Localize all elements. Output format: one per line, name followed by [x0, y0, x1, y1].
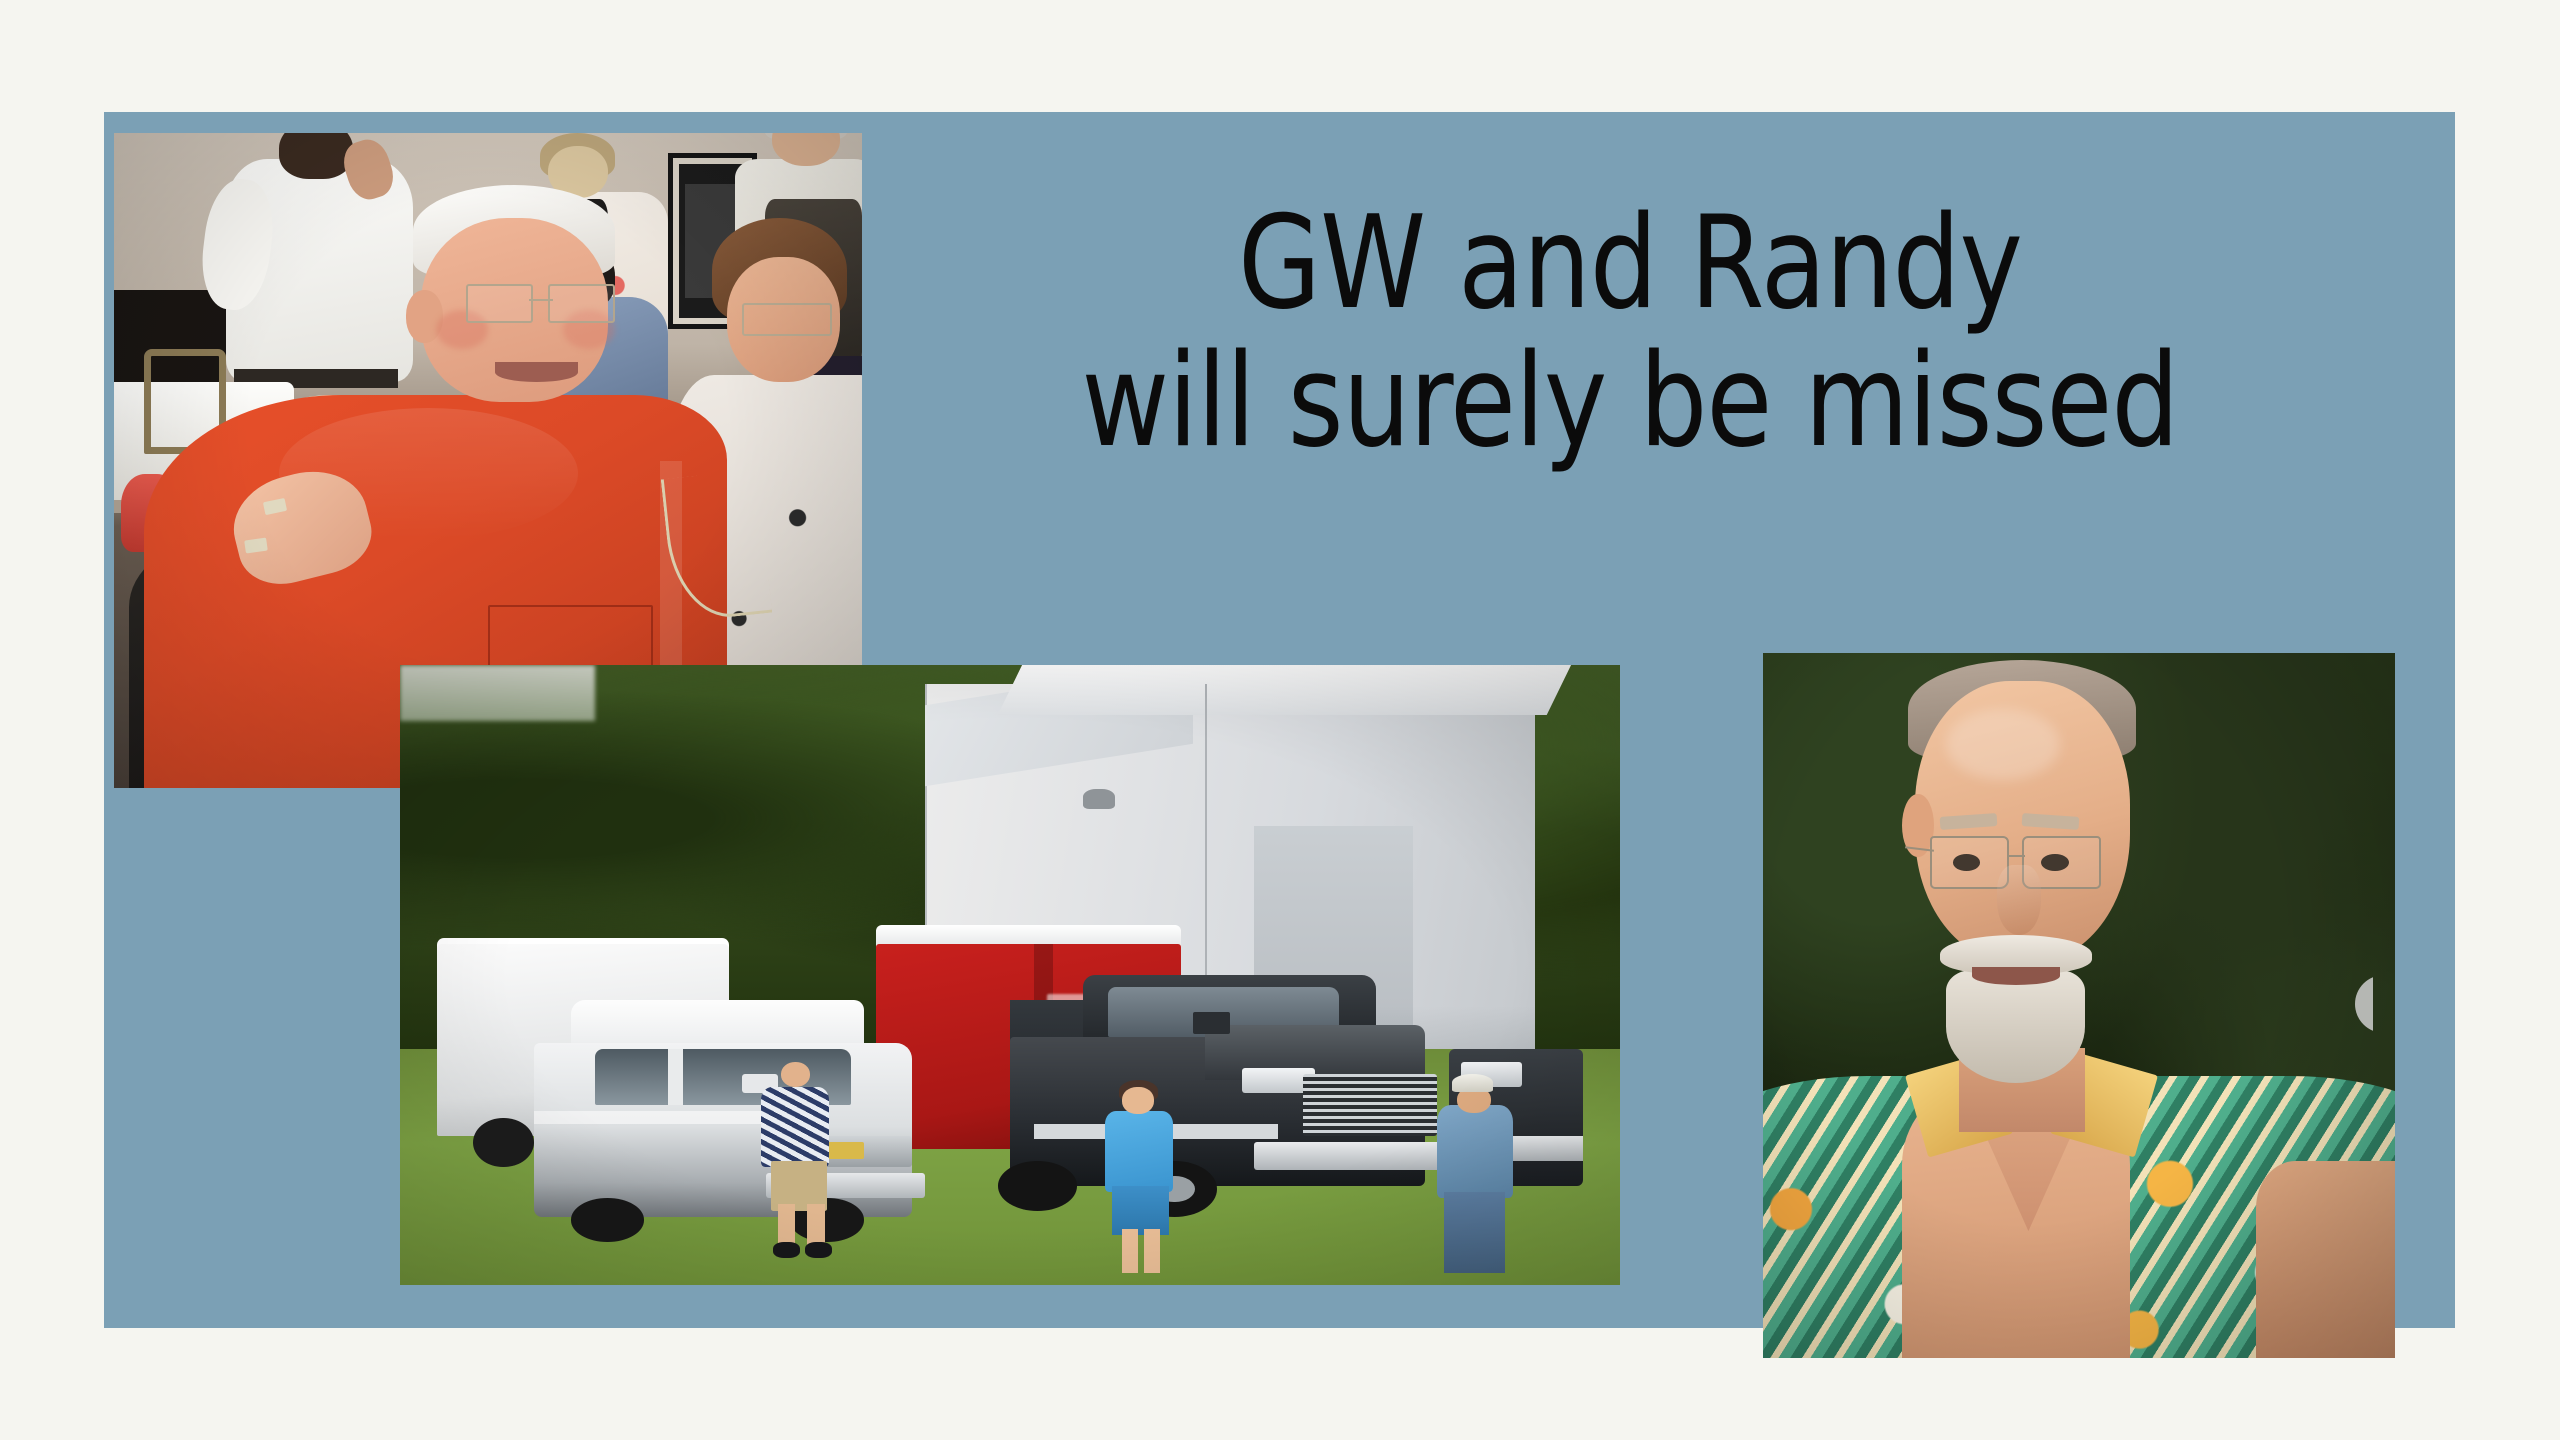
photo-randy-scene: [1763, 653, 2395, 1358]
title-line-1: GW and Randy: [933, 195, 2328, 333]
title-line-2: will surely be missed: [933, 333, 2328, 471]
slide-canvas: GW and Randy will surely be missed: [0, 0, 2560, 1440]
photo-trucks-scene: [400, 665, 1620, 1285]
photo-randy-portrait[interactable]: [1763, 653, 2395, 1358]
photo-trucks-trailers[interactable]: [400, 665, 1620, 1285]
page-title: GW and Randy will surely be missed: [933, 195, 2328, 471]
